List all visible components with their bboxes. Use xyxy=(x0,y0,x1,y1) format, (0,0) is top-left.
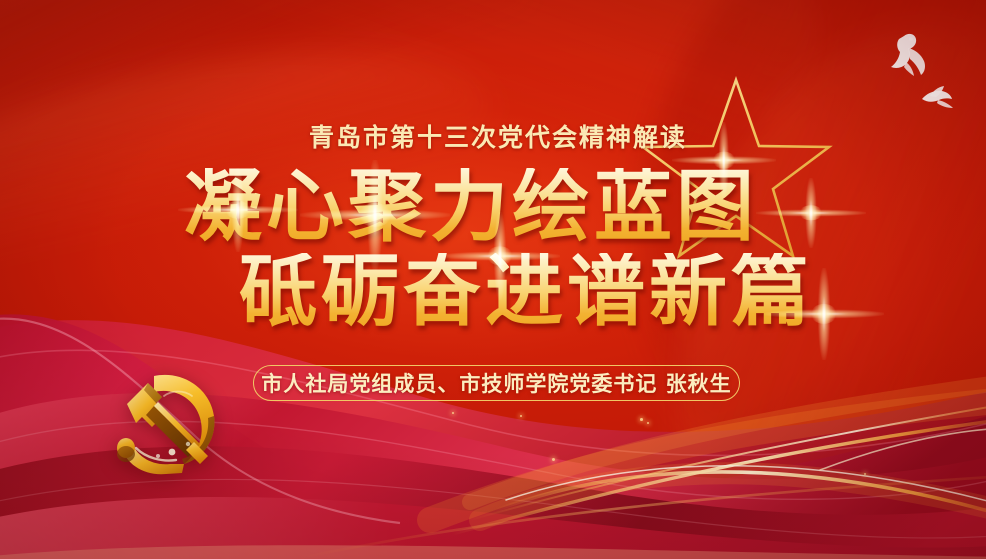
poster-canvas: 青岛市第十三次党代会精神解读 凝心聚力绘蓝图 砥砺奋进谱新篇 市人社局党组成员、… xyxy=(0,0,986,559)
background-vignette xyxy=(0,0,986,559)
